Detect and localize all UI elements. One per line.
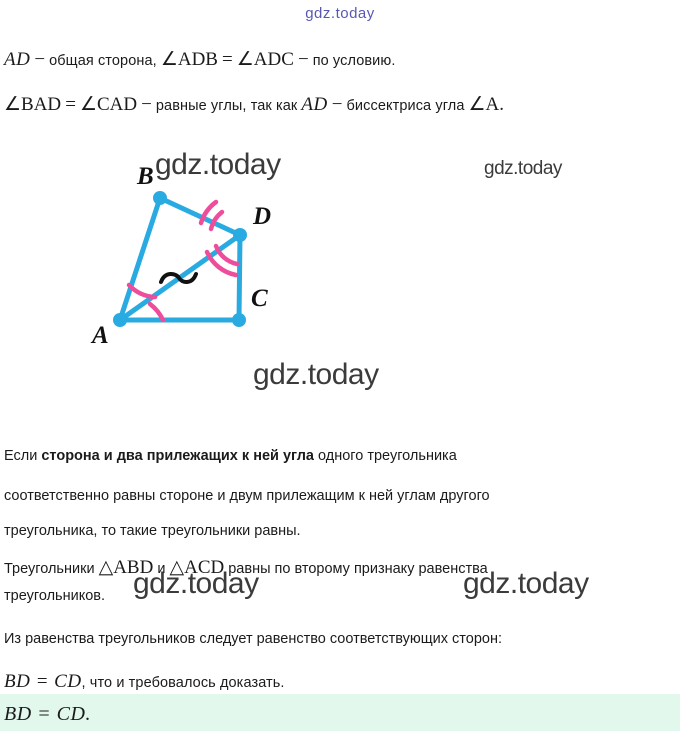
statement-2-dash-2: − [332,94,343,115]
watermark-top: gdz.today [0,5,680,22]
statement-1-math-ad: AD [4,49,30,70]
vertex-label-d: D [253,203,271,231]
statement-line-2: ∠BAD = ∠CAD − равные углы, так как AD − … [4,95,504,114]
watermark-figure-bottom: gdz.today [253,358,379,392]
vertex-dot-d [233,228,247,242]
result-bd-equals-cd: BD = CD [4,671,82,692]
conclusion-line-4: BD = CD, что и требовалось доказать. [4,672,285,691]
conclusion-suffix: равны по второму признаку равенства [224,561,488,577]
vertex-label-a: A [92,322,109,350]
watermark-proof-left: gdz.today [133,567,259,601]
vertex-dot-b [153,191,167,205]
statement-2-angle-a: ∠A. [469,94,505,115]
conclusion-prefix: Треугольники [4,561,99,577]
answer-highlight-box: BD = CD. [0,694,680,731]
statement-1-text-1: общая сторона, [49,53,157,69]
watermark-proof-right: gdz.today [463,567,589,601]
statement-2-math-ad: AD [301,94,327,115]
theorem-line-1: Если сторона и два прилежащих к ней угла… [4,448,457,464]
statement-1-angle-adb: ∠ADB [161,49,218,70]
answer-text: BD = CD. [4,703,91,725]
statement-2-text-1: равные углы, так как [156,98,298,114]
statement-2-equals: = [65,94,76,115]
result-qed-text: , что и требовалось доказать. [82,675,285,691]
geometry-figure [0,140,680,390]
edge-ab [120,198,160,320]
edge-dc [239,235,240,320]
statement-1-dash-1: − [34,49,45,70]
theorem-line-2: соответственно равны стороне и двум прил… [4,488,490,504]
statement-1-text-2: по условию. [313,53,396,69]
statement-line-1: AD − общая сторона, ∠ADB = ∠ADC − по усл… [4,50,395,69]
vertex-dot-a [113,313,127,327]
conclusion-line-3: Из равенства треугольников следует равен… [4,631,502,647]
theorem-line-1-suffix: одного треугольника [314,448,457,464]
conclusion-line-2: треугольников. [4,588,105,604]
watermark-figure-large: gdz.today [155,148,281,182]
statement-1-equals: = [222,49,233,70]
statement-2-angle-cad: ∠CAD [80,94,137,115]
theorem-line-3: треугольника, то такие треугольники равн… [4,523,301,539]
statement-1-dash-2: − [298,49,309,70]
vertex-label-c: C [251,285,268,313]
answer-line: BD = CD. [4,704,91,724]
figure-edges [120,198,240,320]
statement-1-angle-adc: ∠ADC [237,49,294,70]
arc-a-upper [129,285,155,297]
arc-d-inner-lower [216,246,237,264]
theorem-line-1-prefix: Если [4,448,41,464]
watermark-figure-right: gdz.today [484,158,562,180]
vertex-label-b: B [137,163,154,191]
statement-2-text-2: биссектриса угла [347,98,465,114]
theorem-line-1-bold: сторона и два прилежащих к ней угла [41,448,314,464]
edge-bd [160,198,240,235]
vertex-dot-c [232,313,246,327]
statement-2-dash-1: − [141,94,152,115]
statement-2-angle-bad: ∠BAD [4,94,61,115]
